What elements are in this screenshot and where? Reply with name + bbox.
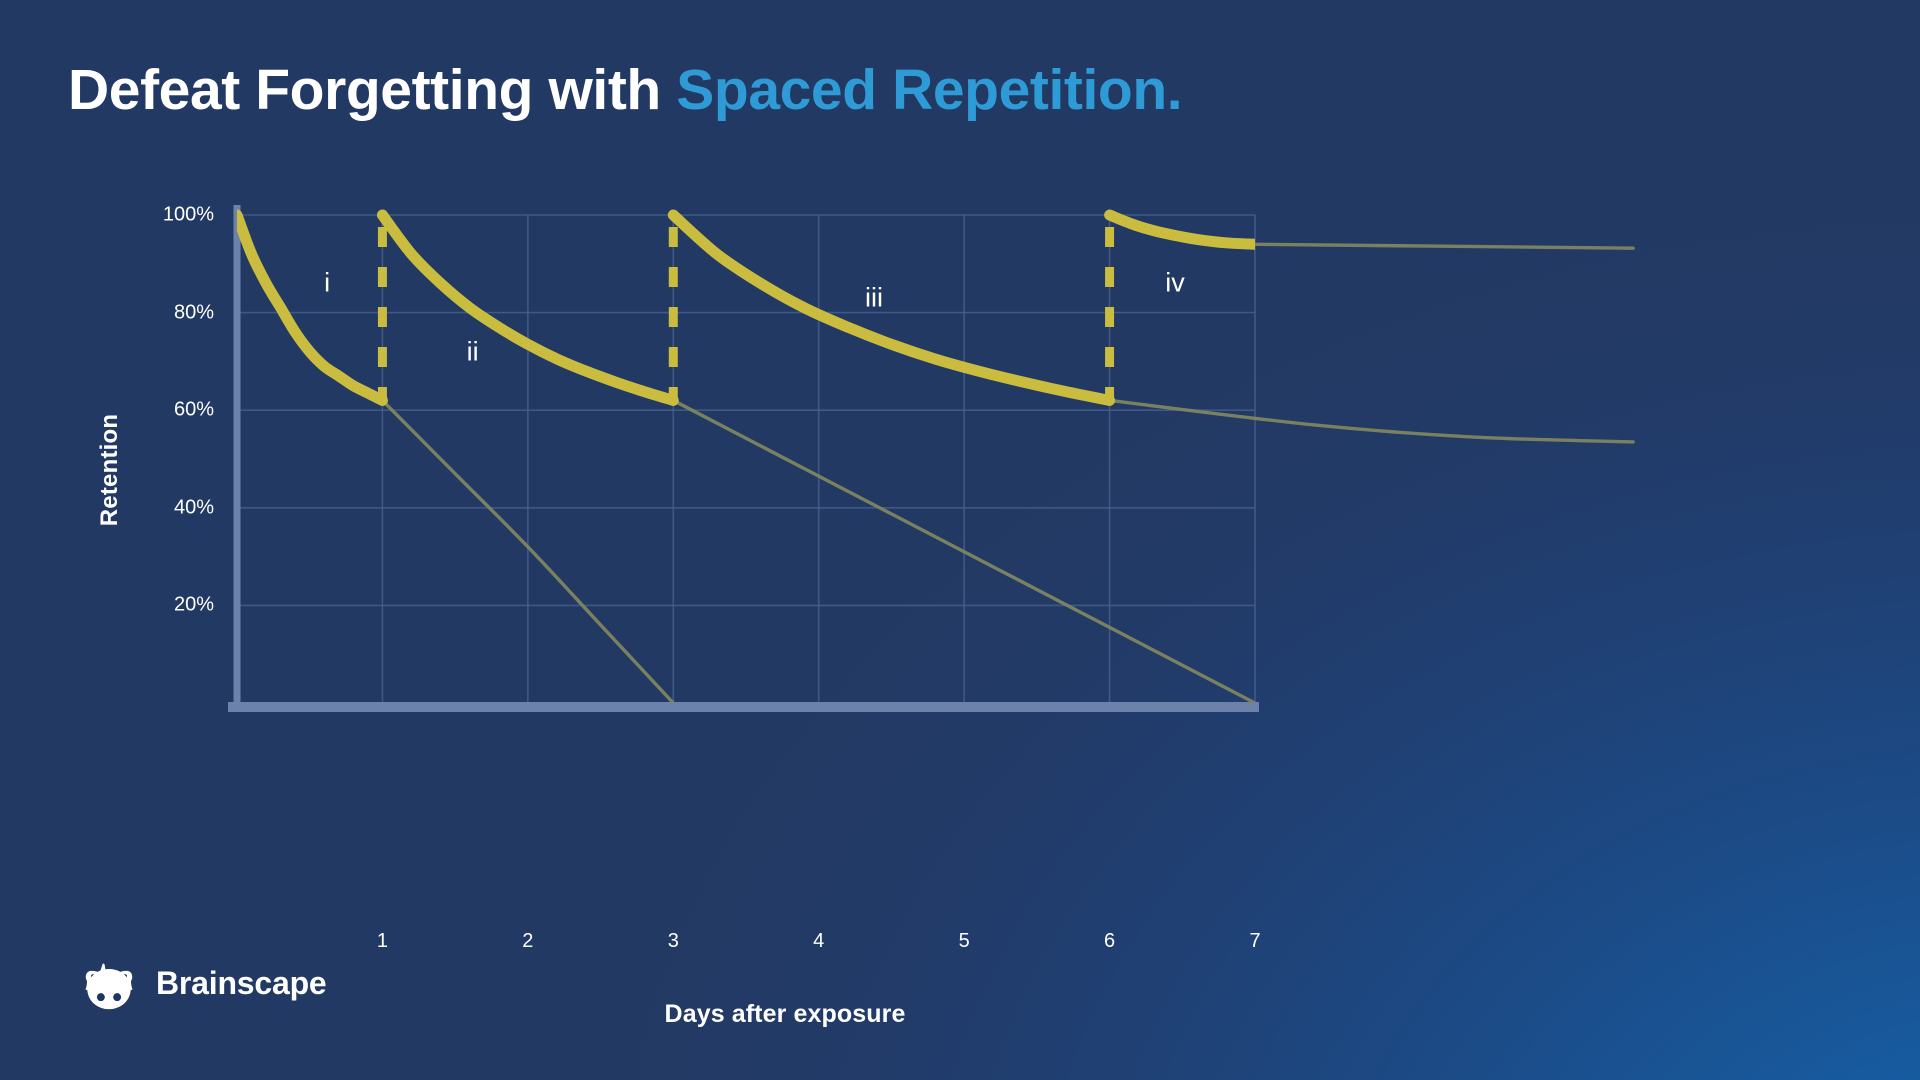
segment-label-ii: ii bbox=[467, 336, 479, 367]
x-axis-tick-label: 7 bbox=[1225, 930, 1285, 953]
x-axis-tick-label: 6 bbox=[1080, 930, 1140, 953]
segment-label-i: i bbox=[324, 268, 330, 299]
x-axis-tick-label: 5 bbox=[934, 930, 994, 953]
segment-label-iii: iii bbox=[865, 282, 883, 313]
curve-path bbox=[1255, 244, 1633, 248]
curve-path bbox=[673, 215, 1109, 400]
y-axis-title: Retention bbox=[96, 355, 124, 585]
x-axis-tick-label: 2 bbox=[498, 930, 558, 953]
segment-label-iv: iv bbox=[1165, 268, 1185, 299]
y-axis-tick-label: 20% bbox=[134, 594, 214, 617]
y-axis-tick-label: 80% bbox=[134, 301, 214, 324]
chart-plot-svg bbox=[0, 0, 1920, 1080]
y-axis-tick-label: 60% bbox=[134, 399, 214, 422]
curve-path bbox=[1110, 215, 1255, 244]
x-axis-tick-label: 1 bbox=[352, 930, 412, 953]
forgetting-curve-chart: 20%40%60%80%100% 1234567 iiiiiiiv Retent… bbox=[0, 0, 1920, 1080]
brand-logo[interactable]: Brainscape bbox=[78, 952, 327, 1014]
y-axis-tick-label: 100% bbox=[134, 204, 214, 227]
curve-path bbox=[237, 215, 382, 400]
x-axis-tick-label: 3 bbox=[643, 930, 703, 953]
y-axis-tick-label: 40% bbox=[134, 496, 214, 519]
retention-curves bbox=[237, 215, 1255, 400]
brainscape-mascot-icon bbox=[78, 952, 140, 1014]
curve-path bbox=[1110, 400, 1634, 441]
slide-canvas: Defeat Forgetting with Spaced Repetition… bbox=[0, 0, 1920, 1080]
brand-name: Brainscape bbox=[156, 965, 327, 1002]
gridlines bbox=[237, 215, 1255, 703]
x-axis-title-text: Days after exposure bbox=[665, 1000, 906, 1029]
x-axis-tick-label: 4 bbox=[789, 930, 849, 953]
